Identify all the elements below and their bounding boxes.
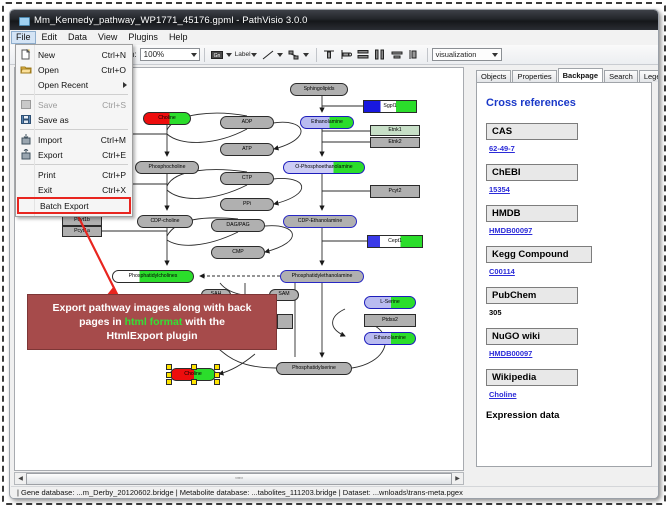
menu-item-label: Save as [38,115,69,125]
menu-item-label: Save [38,100,57,110]
resize-handle-n[interactable] [191,364,197,370]
scroll-thumb[interactable]: ▫▫▫ [26,473,452,485]
toolbar-separator-2 [316,48,317,62]
xref-db-chebi: ChEBI [486,164,578,181]
zoom-combo[interactable]: 100% [140,48,200,61]
side-panel: Objects Properties Backpage Search Legen… [468,67,656,471]
node-ppi[interactable]: PPi [220,198,274,211]
status-bar: | Gene database: ...m_Derby_20120602.bri… [11,486,658,498]
chevron-right-icon [123,82,127,88]
node-cept1[interactable]: Cept1 [367,235,423,248]
node-label: CTP [242,176,252,181]
menu-edit[interactable]: Edit [37,31,63,44]
annotation-line-1: Export pathway images along with back [53,301,252,315]
resize-handle-s[interactable] [191,379,197,385]
datanode-icon[interactable]: Gn [210,48,225,62]
annotation-highlight: html format [125,316,183,328]
distribute-horizontal-icon[interactable] [373,48,388,62]
menu-item-save: Save Ctrl+S [16,97,132,112]
resize-handle-sw[interactable] [166,379,172,385]
annotation-line-2c: with the [182,316,225,328]
xref-db-wikipedia: Wikipedia [486,369,578,386]
xref-link-wikipedia[interactable]: Choline [489,390,642,399]
node-cmp[interactable]: CMP [211,246,265,259]
node-etnk2[interactable]: Etnk2 [370,137,420,148]
node-ethanolamine-top[interactable]: Ethanolamine [300,116,354,129]
side-panel-tabs: Objects Properties Backpage Search Legen… [468,67,656,82]
node-ptdss2[interactable]: Ptdss2 [364,314,416,327]
visualization-value: visualization [436,50,477,59]
same-height-icon[interactable] [407,48,422,62]
resize-handle-ne[interactable] [214,364,220,370]
node-sphingolipids[interactable]: Sphingolipids [290,83,348,96]
annotation-line-3: HtmlExport plugin [53,329,252,343]
node-label: ATP [242,147,252,152]
interaction-dropdown-icon[interactable] [303,53,309,57]
node-label: Sphingolipids [304,87,335,92]
tab-legend[interactable]: Legend [639,70,659,82]
xref-value-pubchem: 305 [489,308,642,317]
node-phosphatidylserine[interactable]: Phosphatidylserine [276,362,352,375]
node-label: CDP-Ethanolamine [298,219,342,224]
node-label: Phosphocholine [149,165,186,170]
zoom-value: 100% [144,50,164,59]
node-etnk1[interactable]: Etnk1 [370,125,420,136]
node-pcyt1a[interactable]: Pcyt1a [62,226,102,237]
screenshot-root: Mm_Kennedy_pathway_WP1771_45176.gpml - P… [0,0,670,509]
node-cdp-ethanolamine[interactable]: CDP-Ethanolamine [283,215,357,228]
menu-item-exit[interactable]: Exit Ctrl+X [16,182,132,197]
node-dag-pag[interactable]: DAG/PAG [211,219,265,232]
toolbar-separator [204,48,205,62]
node-cdp-choline[interactable]: CDP-choline [137,215,193,228]
menu-item-import[interactable]: Import Ctrl+M [16,132,132,147]
node-label: O-Phosphoethanolamine [295,165,352,170]
tab-search[interactable]: Search [604,70,638,82]
node-label: Pcyt1a [74,229,90,234]
toolbar-separator-3 [427,48,428,62]
datanode-dropdown-icon[interactable] [226,53,232,57]
menu-item-batch-export[interactable]: Batch Export [18,198,130,213]
interaction-icon[interactable] [287,48,302,62]
node-choline[interactable]: Choline [143,112,191,125]
menu-item-shortcut: Ctrl+N [102,50,126,60]
save-icon [20,99,32,110]
menu-data[interactable]: Data [63,31,92,44]
scroll-right-arrow[interactable]: ▶ [452,473,463,484]
menu-item-shortcut: Ctrl+X [102,185,126,195]
node-label: Ethanolamine [311,120,343,125]
menu-help[interactable]: Help [164,31,193,44]
chevron-down-icon-2 [492,53,498,57]
menu-item-shortcut: Ctrl+O [101,65,126,75]
visualization-combo[interactable]: visualization [432,48,502,61]
label-tool-label[interactable]: Label [235,51,251,58]
annotation-callout[interactable]: Export pathway images along with back pa… [27,294,277,350]
resize-handle-w[interactable] [166,372,172,378]
menu-item-label: Open [38,65,59,75]
xref-db-nugo: NuGO wiki [486,328,578,345]
tab-properties[interactable]: Properties [512,70,556,82]
node-label: ADP [242,120,253,125]
menu-item-shortcut: Ctrl+P [102,170,126,180]
annotation-anchor-box [277,314,293,329]
menu-item-shortcut: Ctrl+S [102,100,126,110]
node-label: CDP-choline [150,219,179,224]
node-pcyt2[interactable]: Pcyt2 [370,185,420,198]
resize-handle-nw[interactable] [166,364,172,370]
menu-item-label: Export [38,150,63,160]
node-label: Pcyt1b [74,218,90,223]
node-o-phosphoethanolamine[interactable]: O-Phosphoethanolamine [283,161,365,174]
menu-separator-3 [20,164,128,165]
menu-item-label: Import [38,135,62,145]
node-label: Choline [158,116,176,121]
menu-separator-1 [20,94,128,95]
node-label: Choline [184,372,202,377]
node-label: Ptdss2 [382,318,398,323]
menu-file[interactable]: File [11,31,36,44]
menu-item-save-as[interactable]: Save as [16,112,132,127]
node-label: Phosphatidylcholines [129,274,178,279]
svg-text:Gn: Gn [214,53,221,59]
annotation-line-2: pages in html format with the [53,315,252,329]
node-label: Phosphatidylserine [292,366,336,371]
menu-item-shortcut: Ctrl+E [102,150,126,160]
node-label: Pcyt2 [389,189,402,194]
menu-item-open-recent[interactable]: Open Recent [16,77,132,92]
node-label: CMP [232,250,244,255]
node-l-serine[interactable]: L-Serine [364,296,416,309]
menu-item-open[interactable]: Open Ctrl+O [16,62,132,77]
menu-item-export[interactable]: Export Ctrl+E [16,147,132,162]
node-ethanolamine-bottom[interactable]: Ethanolamine [364,332,416,345]
title-bar: Mm_Kennedy_pathway_WP1771_45176.gpml - P… [10,10,658,30]
align-left-icon[interactable] [339,48,354,62]
distribute-vertical-icon[interactable] [356,48,371,62]
xref-db-pubchem: PubChem [486,287,578,304]
xref-db-cas: CAS [486,123,578,140]
node-sgpl1[interactable]: Sgpl1 [363,100,417,113]
xref-link-kegg[interactable]: C00114 [489,267,642,276]
node-label: SAM [278,292,289,297]
tab-objects[interactable]: Objects [476,70,511,82]
resize-handle-e[interactable] [214,372,220,378]
menu-item-label: Open Recent [38,80,88,90]
node-phosphatidylethanolamine[interactable]: Phosphatidylethanolamine [280,270,364,283]
xref-link-hmdb[interactable]: HMDB00097 [489,226,642,235]
node-label: Ethanolamine [374,336,406,341]
node-ctp[interactable]: CTP [220,172,274,185]
same-width-icon[interactable] [390,48,405,62]
menu-item-label: Print [38,170,55,180]
node-phosphocholine[interactable]: Phosphocholine [135,161,199,174]
xref-db-hmdb: HMDB [486,205,578,222]
menu-separator-2 [20,129,128,130]
xref-link-nugo[interactable]: HMDB00097 [489,349,642,358]
expression-data-heading: Expression data [486,410,642,421]
node-adp[interactable]: ADP [220,116,274,129]
window-title: Mm_Kennedy_pathway_WP1771_45176.gpml - P… [34,15,308,26]
save-as-icon [20,114,32,125]
node-label: Etnk1 [388,128,401,133]
scroll-left-arrow[interactable]: ◀ [15,473,26,484]
menu-item-shortcut: Ctrl+M [101,135,126,145]
label-dropdown-icon[interactable] [251,53,257,57]
menu-plugins[interactable]: Plugins [123,31,163,44]
cross-references-heading: Cross references [486,97,642,109]
node-label: DAG/PAG [226,223,249,228]
menu-item-label: Exit [38,185,52,195]
node-label: Etnk2 [388,140,401,145]
annotation-line-2a: pages in [79,316,125,328]
menu-item-label: New [38,50,55,60]
node-label: Sgpl1 [383,104,396,109]
xref-link-chebi[interactable]: 15354 [489,185,642,194]
node-phosphatidylcholines[interactable]: Phosphatidylcholines [112,270,194,283]
new-document-icon [20,49,32,60]
align-top-icon[interactable] [322,48,337,62]
menu-item-new[interactable]: New Ctrl+N [16,47,132,62]
file-menu-dropdown[interactable]: New Ctrl+N Open Ctrl+O Open Recent Save [15,44,133,217]
menu-item-label: Batch Export [40,201,89,211]
resize-handle-se[interactable] [214,379,220,385]
xref-db-kegg: Kegg Compound [486,246,592,263]
canvas-hscrollbar[interactable]: ◀ ▫▫▫ ▶ [14,472,464,485]
tab-backpage[interactable]: Backpage [558,68,603,82]
node-label: L-Serine [380,300,400,305]
pathvisio-icon [18,15,29,26]
xref-link-cas[interactable]: 62-49-7 [489,144,642,153]
status-text: | Gene database: ...m_Derby_20120602.bri… [17,488,463,497]
line-icon[interactable] [261,48,276,62]
line-dropdown-icon[interactable] [277,53,283,57]
node-label: Cept1 [388,239,402,244]
backpage-content: Cross references CAS 62-49-7 ChEBI 15354… [476,82,652,467]
menu-view[interactable]: View [93,31,122,44]
open-folder-icon [20,64,32,75]
node-label: Phosphatidylethanolamine [292,274,353,279]
import-icon [20,134,32,145]
menu-item-print[interactable]: Print Ctrl+P [16,167,132,182]
pathvisio-window: Mm_Kennedy_pathway_WP1771_45176.gpml - P… [9,9,659,499]
chevron-down-icon [191,53,197,57]
node-atp[interactable]: ATP [220,143,274,156]
export-icon [20,149,32,160]
node-label: PPi [243,202,251,207]
